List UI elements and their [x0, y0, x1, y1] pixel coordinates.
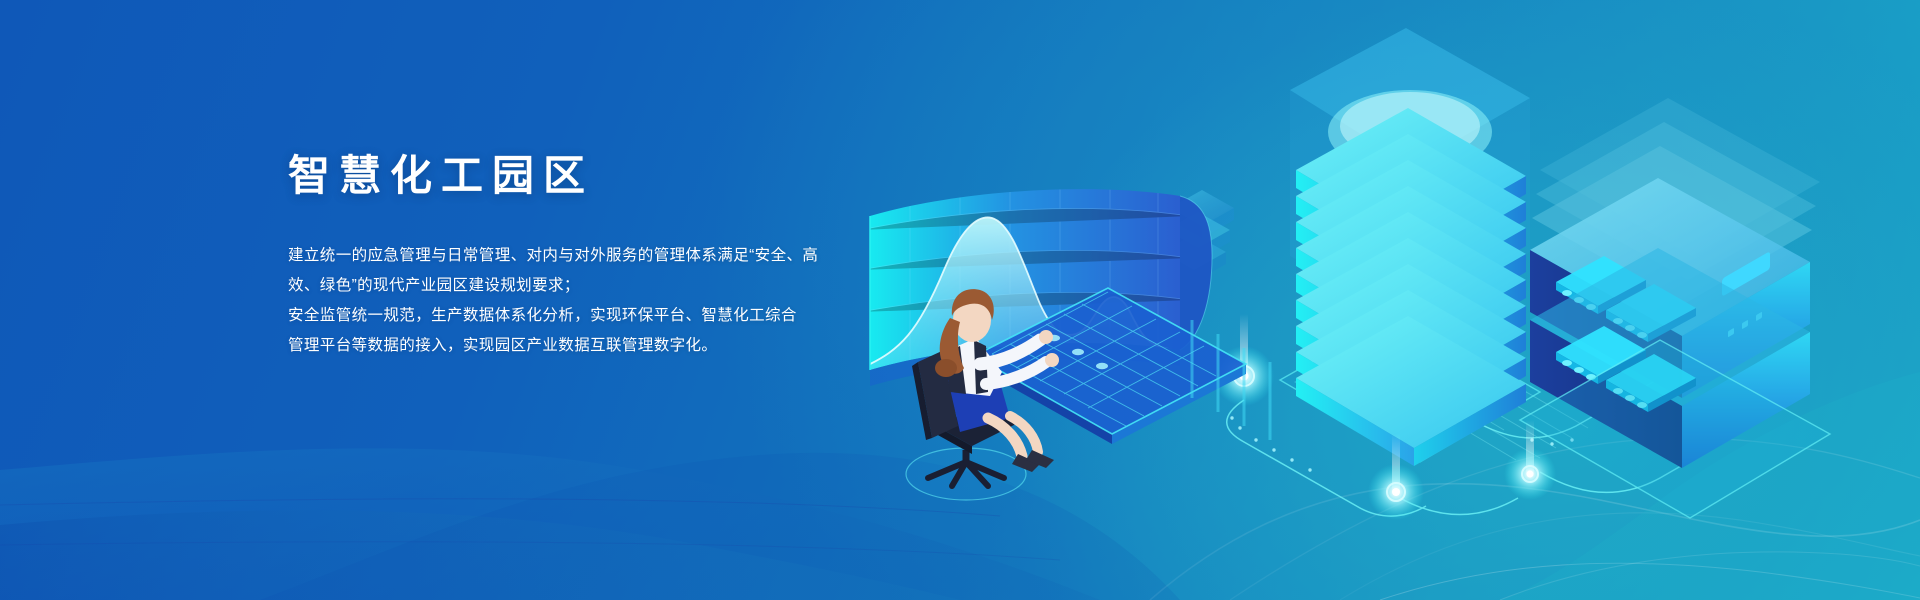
- description-line-3: 安全监管统一规范，生产数据体系化分析，实现环保平台、智慧化工综合: [288, 301, 908, 331]
- hero-banner: 智慧化工园区 建立统一的应急管理与日常管理、对内与对外服务的管理体系满足“安全、…: [0, 0, 1920, 600]
- description-line-1: 建立统一的应急管理与日常管理、对内与对外服务的管理体系满足“安全、高: [288, 241, 908, 271]
- tower-slabs: [1296, 108, 1526, 466]
- description-line-2: 效、绿色”的现代产业园区建设规划要求；: [288, 271, 908, 301]
- isometric-illustration: [840, 20, 1920, 580]
- page-title: 智慧化工园区: [288, 150, 908, 203]
- central-data-tower: [1290, 20, 1530, 466]
- banner-copy: 智慧化工园区 建立统一的应急管理与日常管理、对内与对外服务的管理体系满足“安全、…: [288, 150, 908, 361]
- banner-description: 建立统一的应急管理与日常管理、对内与对外服务的管理体系满足“安全、高 效、绿色”…: [288, 241, 908, 361]
- server-rack-right: [1520, 96, 1830, 518]
- description-line-4: 管理平台等数据的接入，实现园区产业数据互联管理数字化。: [288, 331, 908, 361]
